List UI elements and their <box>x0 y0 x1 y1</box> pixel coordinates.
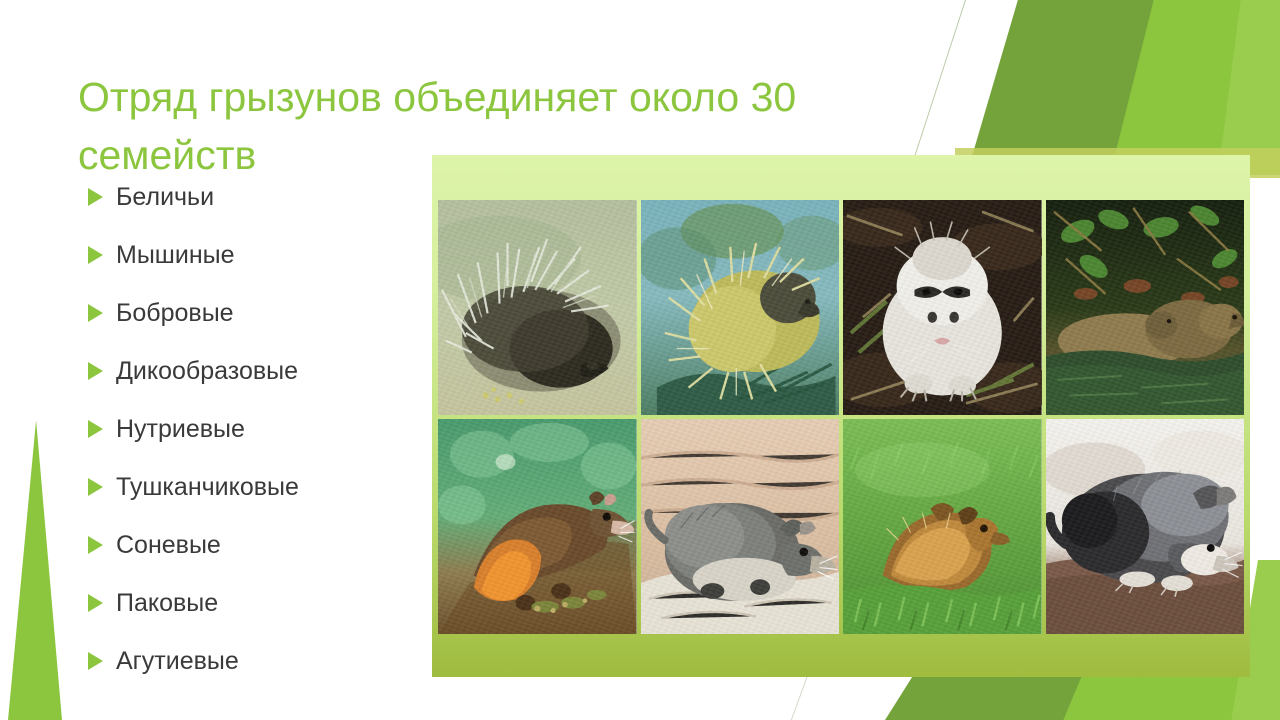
list-item[interactable]: Соневые <box>88 516 438 574</box>
list-item-label: Беличьи <box>116 183 214 212</box>
triangle-right-icon <box>88 188 103 206</box>
triangle-right-icon <box>88 420 103 438</box>
photo-grid <box>438 200 1244 634</box>
list-item-label: Бобровые <box>116 299 234 328</box>
list-item[interactable]: Тушканчиковые <box>88 458 438 516</box>
photo-nutria-grass[interactable] <box>843 419 1042 634</box>
top-right-band-3 <box>1218 0 1280 175</box>
list-item-label: Мышиные <box>116 241 235 270</box>
top-right-band-1 <box>968 0 1280 170</box>
photo-white-rodent[interactable] <box>843 200 1042 415</box>
photo-agouti[interactable] <box>438 419 637 634</box>
list-item-label: Соневые <box>116 531 221 560</box>
list-item-label: Нутриевые <box>116 415 245 444</box>
top-right-band-2 <box>1110 0 1280 175</box>
list-item-label: Паковые <box>116 589 218 618</box>
bottom-left-spike <box>8 420 62 720</box>
list-item[interactable]: Паковые <box>88 574 438 632</box>
triangle-right-icon <box>88 594 103 612</box>
list-item[interactable]: Бобровые <box>88 284 438 342</box>
slide-canvas: Отряд грызунов объединяет около 30 семей… <box>0 0 1280 720</box>
list-item[interactable]: Дикообразовые <box>88 342 438 400</box>
list-item[interactable]: Беличьи <box>88 168 438 226</box>
list-item[interactable]: Нутриевые <box>88 400 438 458</box>
rodent-family-list: Беличьи Мышиные Бобровые Дикообразовые Н… <box>88 168 438 690</box>
list-item[interactable]: Мышиные <box>88 226 438 284</box>
list-item-label: Дикообразовые <box>116 357 298 386</box>
photo-capybara-water[interactable] <box>1046 200 1245 415</box>
triangle-right-icon <box>88 536 103 554</box>
triangle-right-icon <box>88 652 103 670</box>
triangle-right-icon <box>88 246 103 264</box>
triangle-right-icon <box>88 362 103 380</box>
rodent-photo-collage <box>432 155 1250 677</box>
list-item-label: Агутиевые <box>116 647 239 676</box>
triangle-right-icon <box>88 304 103 322</box>
photo-porcupine-dark[interactable] <box>438 200 637 415</box>
photo-grey-rodent-rock[interactable] <box>641 419 840 634</box>
photo-chinchilla[interactable] <box>1046 419 1245 634</box>
photo-porcupine-yellow[interactable] <box>641 200 840 415</box>
triangle-right-icon <box>88 478 103 496</box>
list-item-label: Тушканчиковые <box>116 473 299 502</box>
list-item[interactable]: Агутиевые <box>88 632 438 690</box>
